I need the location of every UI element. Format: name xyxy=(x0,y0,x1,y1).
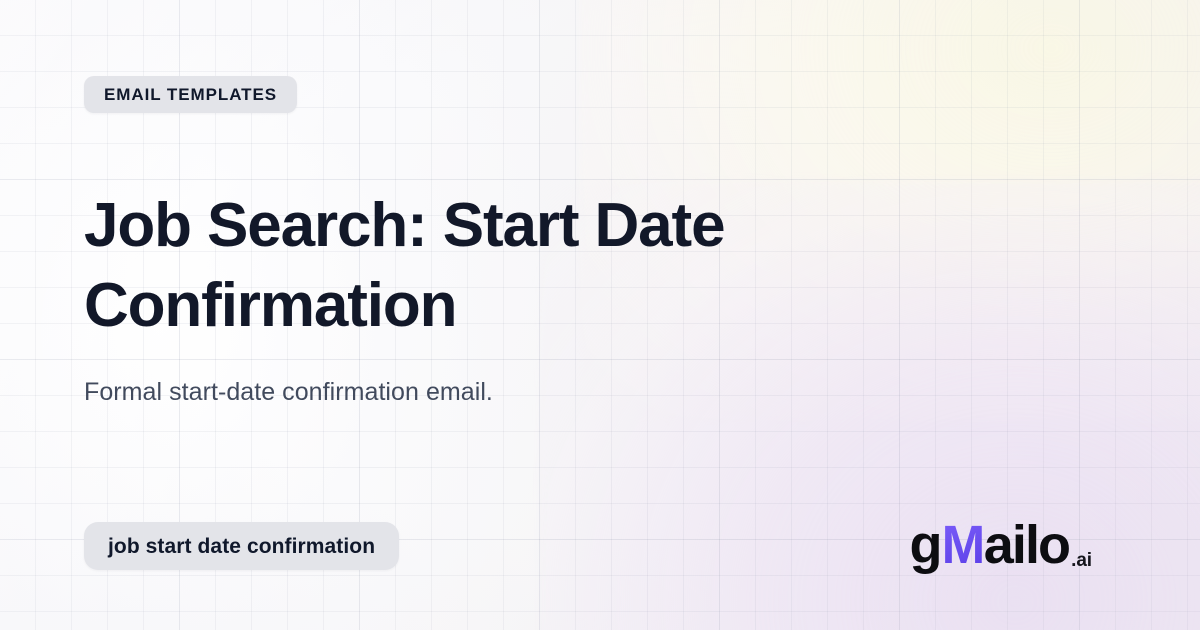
tag-badge-label: job start date confirmation xyxy=(108,536,375,557)
brand-logo: g M ailo .ai xyxy=(909,518,1092,572)
tag-badge: job start date confirmation xyxy=(84,522,399,570)
brand-text-trailing: ailo xyxy=(984,518,1069,572)
brand-domain-suffix: .ai xyxy=(1071,551,1092,572)
brand-text-leading: g xyxy=(909,518,940,572)
page-title: Job Search: Start Date Confirmation xyxy=(84,186,784,346)
card-content: EMAIL TEMPLATES Job Search: Start Date C… xyxy=(0,0,1200,630)
eyebrow-badge-label: EMAIL TEMPLATES xyxy=(104,86,277,103)
eyebrow-badge: EMAIL TEMPLATES xyxy=(84,76,297,113)
brand-wordmark: g M ailo xyxy=(909,518,1069,572)
brand-accent-letter: M xyxy=(941,518,983,572)
page-subtitle: Formal start-date confirmation email. xyxy=(84,376,904,410)
og-card: EMAIL TEMPLATES Job Search: Start Date C… xyxy=(0,0,1200,630)
